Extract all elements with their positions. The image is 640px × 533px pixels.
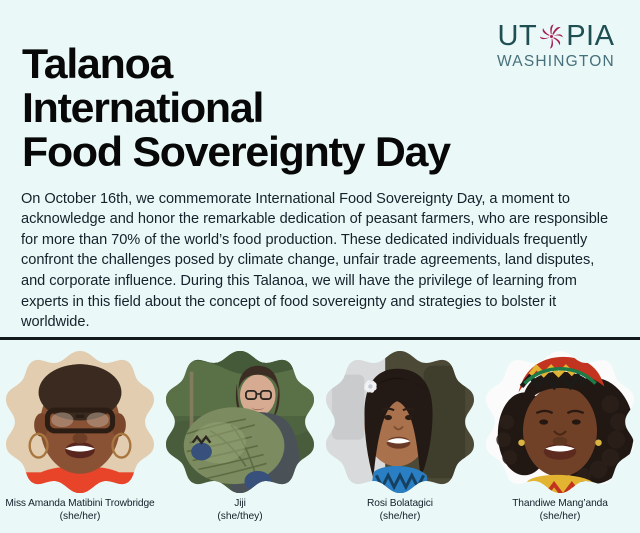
- speaker-name: Miss Amanda Matibini Trowbridge: [0, 497, 160, 510]
- header-section: Talanoa International Food Sovereignty D…: [0, 0, 640, 338]
- speaker-pronouns: (she/her): [320, 510, 480, 524]
- speaker-card: Miss Amanda Matibini Trowbridge (she/her…: [0, 344, 160, 533]
- speaker-card: Jiji (she/they): [160, 344, 320, 533]
- speaker-name: Rosi Bolatagici: [320, 497, 480, 510]
- section-divider: [0, 337, 640, 340]
- speaker-name: Thandiwe Mang’anda: [480, 497, 640, 510]
- speaker-photo-amanda: [6, 348, 154, 496]
- speaker-photo-rosi: [326, 348, 474, 496]
- logo-letters-after: PIA: [566, 21, 614, 51]
- speaker-pronouns: (she/they): [160, 510, 320, 524]
- utopia-washington-logo: UT: [490, 20, 622, 76]
- speaker-pronouns: (she/her): [480, 510, 640, 524]
- speaker-name: Jiji: [160, 497, 320, 510]
- utopia-pinwheel-flower-icon: [538, 23, 565, 50]
- speaker-pronouns: (she/her): [0, 510, 160, 524]
- speaker-card: Rosi Bolatagici (she/her): [320, 344, 480, 533]
- speaker-card: Thandiwe Mang’anda (she/her): [480, 344, 640, 533]
- poster-canvas: Talanoa International Food Sovereignty D…: [0, 0, 640, 533]
- speaker-photo-jiji: [166, 348, 314, 496]
- logo-subtitle: WASHINGTON: [490, 53, 622, 71]
- speaker-photo-thandiwe: [486, 348, 634, 496]
- body-paragraph: On October 16th, we commemorate Internat…: [21, 189, 619, 333]
- logo-wordmark: UT: [490, 20, 622, 52]
- logo-letters-before: UT: [498, 21, 538, 51]
- speakers-row: Miss Amanda Matibini Trowbridge (she/her…: [0, 344, 640, 533]
